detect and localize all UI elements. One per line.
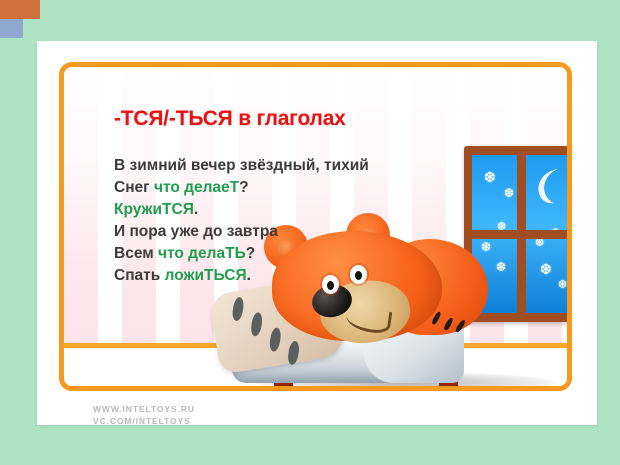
verse-highlight: что делаТЬ <box>158 245 246 262</box>
verse-plain: В зимний вечер звёздный, тихий <box>114 157 369 174</box>
snowflake-icon: ❆ <box>504 187 514 200</box>
verse-highlight: КружиТСЯ <box>114 201 194 218</box>
bear-claw <box>443 317 454 332</box>
verse-plain: Спать <box>114 267 165 284</box>
watermark: WWW.INTELTOYS.RU VC.COM/INTELTOYS <box>93 403 195 425</box>
right-edge-decor-bar <box>0 19 23 38</box>
verse-line: В зимний вечер звёздный, тихий <box>114 155 454 177</box>
verse-line: И пора уже до завтра <box>114 221 454 243</box>
verse-line: Спать ложиТЬСЯ. <box>114 265 454 287</box>
pillow-stripe <box>231 296 245 321</box>
watermark-line-2: VC.COM/INTELTOYS <box>93 415 195 425</box>
verse-line: Снег что делаеТ? <box>114 177 454 199</box>
verse-highlight: ложиТЬСЯ <box>165 267 247 284</box>
verse-plain-tail: ? <box>239 179 248 196</box>
verse-line: Всем что делаТЬ? <box>114 243 454 265</box>
orange-frame-border: ❆ ❆ ❆ ❆ ❆ ❆ ❆ ❆ ❆ <box>59 62 572 391</box>
watermark-line-1: WWW.INTELTOYS.RU <box>93 403 195 415</box>
verse-plain-tail: ? <box>246 245 255 262</box>
left-edge-decor-bar <box>0 0 40 19</box>
verse-plain-tail: . <box>247 267 251 284</box>
verse-highlight: что делаеТ <box>154 179 239 196</box>
slide-title: -ТСЯ/-ТЬСЯ в глаголах <box>114 107 454 131</box>
verse-plain-tail: . <box>194 201 198 218</box>
verse-plain: И пора уже до завтра <box>114 223 278 240</box>
bear-claw <box>455 319 467 333</box>
text-block: -ТСЯ/-ТЬСЯ в глаголах В зимний вечер звё… <box>114 107 454 287</box>
verse-plain: Снег <box>114 179 154 196</box>
verse-plain: Всем <box>114 245 158 262</box>
slide-stage: ❆ ❆ ❆ ❆ ❆ ❆ ❆ ❆ ❆ <box>0 0 620 465</box>
verse-line: КружиТСЯ. <box>114 199 454 221</box>
snowflake-icon: ❆ <box>484 171 496 184</box>
crescent-moon-icon <box>530 167 568 205</box>
slide-card: ❆ ❆ ❆ ❆ ❆ ❆ ❆ ❆ ❆ <box>37 41 597 425</box>
